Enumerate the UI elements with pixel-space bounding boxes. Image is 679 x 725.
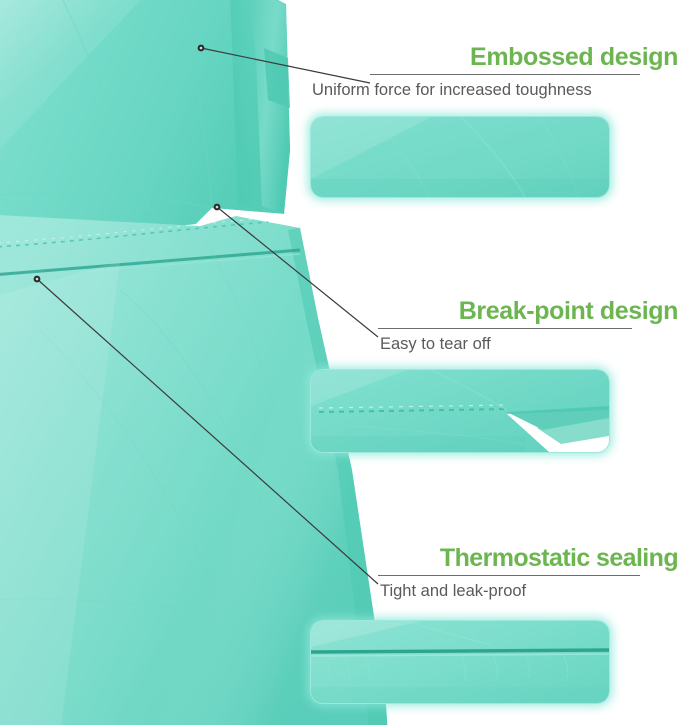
infographic-canvas: Embossed design Uniform force for increa… <box>0 0 679 725</box>
product-photo <box>0 0 679 725</box>
perforated-tear-line-swatch <box>311 370 609 452</box>
feature-divider <box>378 328 632 329</box>
detail-panel-heat-seal <box>310 620 610 704</box>
heat-seal-seam-swatch <box>311 621 609 703</box>
feature-thermostatic-sealing: Thermostatic sealing Tight and leak-proo… <box>358 545 678 602</box>
feature-title: Embossed design <box>358 44 678 70</box>
detail-panel-perforation <box>310 369 610 453</box>
feature-title: Break-point design <box>358 298 678 324</box>
feature-subtitle: Tight and leak-proof <box>380 581 678 602</box>
feature-divider <box>370 74 640 75</box>
feature-subtitle: Easy to tear off <box>380 334 678 355</box>
detail-panel-embossed-film <box>310 116 610 198</box>
feature-break-point-design: Break-point design Easy to tear off <box>358 298 678 355</box>
feature-subtitle: Uniform force for increased toughness <box>312 80 678 101</box>
feature-divider <box>378 575 640 576</box>
feature-title: Thermostatic sealing <box>358 545 678 571</box>
feature-embossed-design: Embossed design Uniform force for increa… <box>358 44 678 101</box>
embossed-film-swatch <box>311 117 609 197</box>
